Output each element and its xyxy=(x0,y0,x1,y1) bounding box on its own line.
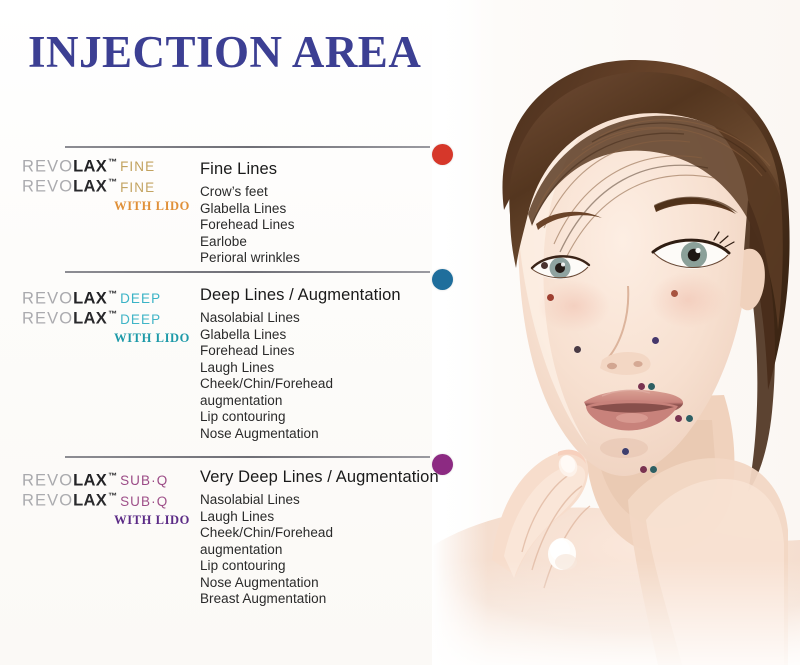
logo-revo-text: REVO xyxy=(22,289,73,307)
trademark-icon: ™ xyxy=(108,157,117,167)
with-lido-label: WITH LIDO xyxy=(22,331,190,346)
indication-item: Lip contouring xyxy=(200,409,435,426)
section-divider xyxy=(65,456,430,458)
section-divider xyxy=(65,271,430,273)
product-logo-deep: REVOLAX™DEEPREVOLAX™DEEPWITH LIDO xyxy=(22,290,194,346)
logo-lax-text: LAX xyxy=(73,178,107,196)
logo-wordmark: REVOLAX™DEEP xyxy=(22,290,194,307)
indication-heading: Deep Lines / Augmentation xyxy=(200,286,435,305)
trademark-icon: ™ xyxy=(108,289,117,299)
logo-revo-text: REVO xyxy=(22,157,73,175)
indication-item: Breast Augmentation xyxy=(200,591,435,608)
indication-item: Lip contouring xyxy=(200,558,435,575)
logo-lax-text: LAX xyxy=(73,289,107,307)
trademark-icon: ™ xyxy=(108,177,117,187)
injection-dot-chin-upper xyxy=(622,448,629,455)
indication-item: Cheek/Chin/Forehead xyxy=(200,525,435,542)
injection-dot-glabella xyxy=(547,294,554,301)
indications-fine: Fine LinesCrow’s feetGlabella LinesForeh… xyxy=(200,160,435,267)
indication-heading: Fine Lines xyxy=(200,160,435,179)
indication-heading: Very Deep Lines / Augmentation xyxy=(200,468,435,487)
logo-lax-text: LAX xyxy=(73,310,107,328)
page-title: INJECTION AREA xyxy=(28,26,421,78)
injection-dot-lip-corner-a xyxy=(675,415,682,422)
logo-variant-text: DEEP xyxy=(120,312,161,327)
logo-variant-text: SUB·Q xyxy=(120,494,168,509)
indication-item: Earlobe xyxy=(200,234,435,251)
indication-item: Nose Augmentation xyxy=(200,575,435,592)
with-lido-label: WITH LIDO xyxy=(22,199,190,214)
indication-item: Forehead Lines xyxy=(200,217,435,234)
infographic-page: INJECTION AREA REVOLAX™FINEREVOLAX™FINEW… xyxy=(0,0,800,665)
indication-item: Laugh Lines xyxy=(200,360,435,377)
indication-item: Glabella Lines xyxy=(200,327,435,344)
injection-dot-nasolabial-b xyxy=(648,383,655,390)
model-photo xyxy=(432,0,800,665)
injection-dot-nasolabial-a xyxy=(638,383,645,390)
logo-revo-text: REVO xyxy=(22,471,73,489)
model-photo-illustration xyxy=(432,0,800,665)
injection-dot-forehead-left xyxy=(541,262,548,269)
legend-dot-deep xyxy=(432,269,453,290)
indication-item: Nose Augmentation xyxy=(200,426,435,443)
section-divider xyxy=(65,146,430,148)
trademark-icon: ™ xyxy=(108,309,117,319)
indication-item: augmentation xyxy=(200,393,435,410)
logo-revo-text: REVO xyxy=(22,492,73,510)
logo-variant-text: FINE xyxy=(120,180,155,195)
indication-item: augmentation xyxy=(200,542,435,559)
logo-wordmark: REVOLAX™FINE xyxy=(22,158,194,175)
legend-dot-fine xyxy=(432,144,453,165)
logo-variant-text: SUB·Q xyxy=(120,473,168,488)
indications-deep: Deep Lines / AugmentationNasolabial Line… xyxy=(200,286,435,442)
indications-subq: Very Deep Lines / AugmentationNasolabial… xyxy=(200,468,435,608)
indication-item: Laugh Lines xyxy=(200,509,435,526)
logo-wordmark: REVOLAX™SUB·Q xyxy=(22,472,194,489)
indication-item: Nasolabial Lines xyxy=(200,492,435,509)
indication-item: Glabella Lines xyxy=(200,201,435,218)
injection-dot-chin-a xyxy=(640,466,647,473)
logo-wordmark: REVOLAX™FINE xyxy=(22,178,194,195)
logo-wordmark: REVOLAX™SUB·Q xyxy=(22,492,194,509)
injection-dot-crows-feet-right xyxy=(671,290,678,297)
indication-item: Cheek/Chin/Forehead xyxy=(200,376,435,393)
logo-lax-text: LAX xyxy=(73,492,107,510)
logo-variant-text: DEEP xyxy=(120,291,161,306)
indication-item: Nasolabial Lines xyxy=(200,310,435,327)
logo-lax-text: LAX xyxy=(73,157,107,175)
product-logo-fine: REVOLAX™FINEREVOLAX™FINEWITH LIDO xyxy=(22,158,194,214)
injection-dot-cheek-upper-right xyxy=(652,337,659,344)
trademark-icon: ™ xyxy=(108,471,117,481)
logo-variant-text: FINE xyxy=(120,159,155,174)
logo-revo-text: REVO xyxy=(22,310,73,328)
injection-dot-lip-corner-b xyxy=(686,415,693,422)
product-logo-subq: REVOLAX™SUB·QREVOLAX™SUB·QWITH LIDO xyxy=(22,472,194,528)
logo-lax-text: LAX xyxy=(73,471,107,489)
indication-item: Crow’s feet xyxy=(200,184,435,201)
indication-item: Forehead Lines xyxy=(200,343,435,360)
logo-wordmark: REVOLAX™DEEP xyxy=(22,310,194,327)
injection-dot-chin-b xyxy=(650,466,657,473)
with-lido-label: WITH LIDO xyxy=(22,513,190,528)
trademark-icon: ™ xyxy=(108,491,117,501)
indication-item: Perioral wrinkles xyxy=(200,250,435,267)
injection-dot-cheek-left xyxy=(574,346,581,353)
logo-revo-text: REVO xyxy=(22,178,73,196)
